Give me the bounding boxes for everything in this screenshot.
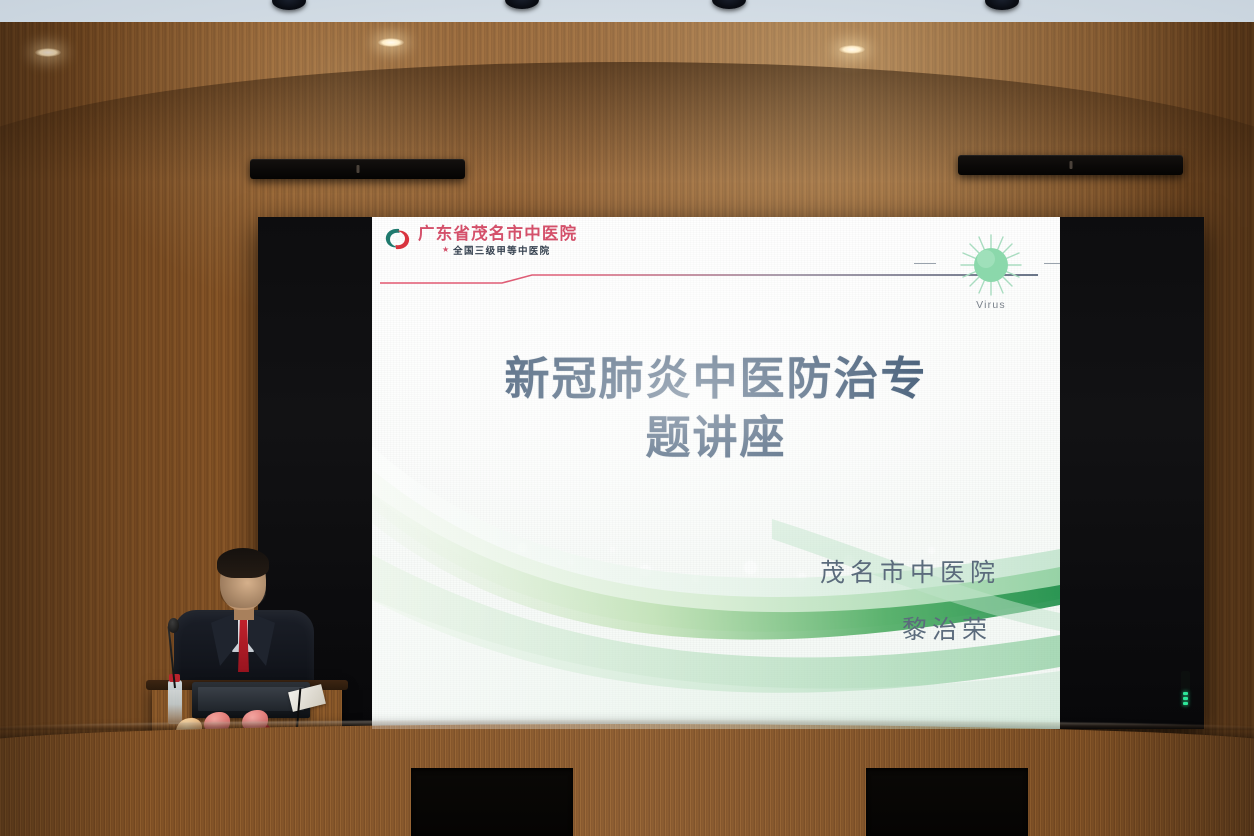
badge-line-left <box>914 263 936 264</box>
virus-label: Virus <box>932 299 1050 311</box>
presenter-name: 黎治荣 <box>700 614 992 647</box>
hair <box>217 548 269 578</box>
presenter-organization: 茂名市中医院 <box>700 557 1000 590</box>
microphone-icon <box>168 618 179 633</box>
hospital-swirl-emblem-icon <box>384 227 411 251</box>
virus-badge: Virus <box>932 223 1050 311</box>
slide-title: 新冠肺炎中医防治专 题讲座 <box>406 349 1026 468</box>
presenter-block: 茂名市中医院 黎治荣 <box>700 557 1000 646</box>
presentation-slide[interactable]: 广东省茂名市中医院 ★ 全国三级甲等中医院 <box>372 217 1060 729</box>
hospital-logo: 广东省茂名市中医院 ★ 全国三级甲等中医院 <box>384 225 577 257</box>
wall-speaker-right <box>958 155 1183 175</box>
stage-vent-panel-left <box>411 768 573 836</box>
wall-speaker-left <box>250 159 465 179</box>
speaker-logo-dot <box>1069 161 1072 169</box>
stage-front-wall <box>0 724 1254 836</box>
badge-line-right <box>1044 263 1060 264</box>
logo-main-text: 广东省茂名市中医院 <box>418 225 577 242</box>
downlight-icon <box>378 38 404 47</box>
slide-title-line1: 新冠肺炎中医防治专 <box>406 349 1026 408</box>
speaker-logo-dot <box>356 165 359 173</box>
logo-sub-text: 全国三级甲等中医院 <box>453 243 550 257</box>
star-icon: ★ <box>442 246 449 254</box>
slide-title-line2: 题讲座 <box>406 408 1026 467</box>
downlight-icon <box>35 48 61 57</box>
led-video-wall[interactable]: 广东省茂名市中医院 ★ 全国三级甲等中医院 <box>258 217 1204 729</box>
led-panel-right-black <box>1060 217 1204 729</box>
logo-sub-row: ★ 全国三级甲等中医院 <box>418 243 577 257</box>
stage-vent-panel-right <box>866 768 1028 836</box>
virus-icon <box>954 231 1028 299</box>
downlight-icon <box>839 45 865 54</box>
led-status-indicator <box>1181 671 1190 707</box>
logo-text-block: 广东省茂名市中医院 ★ 全国三级甲等中医院 <box>418 225 577 257</box>
conference-hall-scene: 广东省茂名市中医院 ★ 全国三级甲等中医院 <box>0 0 1254 836</box>
